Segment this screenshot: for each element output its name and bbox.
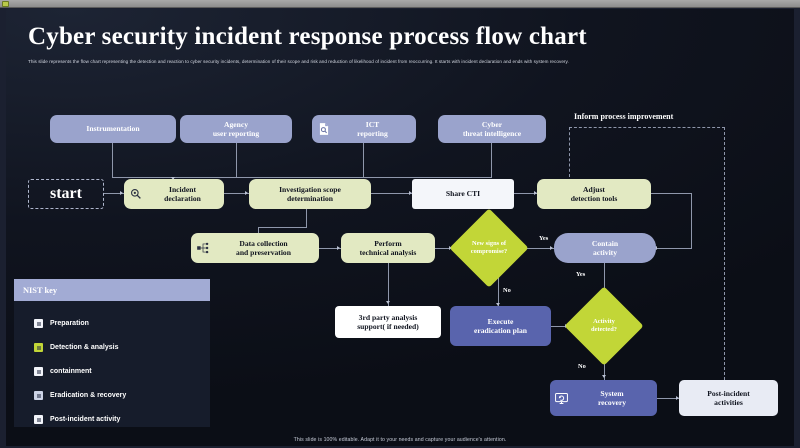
node-system-recovery-labels: System recovery (571, 389, 653, 408)
node-incident-line2: declaration (145, 194, 220, 203)
window-titlebar (0, 0, 800, 8)
node-data-collection-preservation[interactable]: Data collection and preservation (191, 233, 319, 263)
slide-subtitle: This slide represents the flow chart rep… (28, 57, 764, 67)
node-adjust-detection-tools[interactable]: Adjust detection tools (537, 179, 651, 209)
node-recovery-line2: recovery (571, 398, 653, 407)
node-contain-activity[interactable]: Contain activity (554, 233, 656, 263)
legend-item-eradication-recovery[interactable]: Eradication & recovery (34, 391, 126, 400)
node-third-party-line1: 3rd party analysis (357, 313, 419, 322)
node-eradication-line1: Execute (488, 317, 514, 326)
magnifier-icon (128, 187, 143, 202)
arrow-start-to-incident (120, 191, 123, 195)
legend-label-containment: containment (50, 368, 92, 375)
slide-footer: This slide is 100% editable. Adapt it to… (6, 437, 794, 443)
node-third-party-analysis-support[interactable]: 3rd party analysis support( if needed) (335, 306, 441, 338)
connector-investigation-down (306, 208, 307, 227)
node-post-incident-line2: activities (714, 398, 743, 407)
page-title: Cyber security incident response process… (28, 23, 587, 51)
node-cti-line2: threat intelligence (463, 129, 521, 138)
application-window: Cyber security incident response process… (0, 0, 800, 448)
legend-item-preparation[interactable]: Preparation (34, 319, 89, 328)
node-investigation-scope-determination[interactable]: Investigation scope determination (249, 179, 371, 209)
edge-label-no-third-party: No (503, 287, 511, 294)
monitor-recovery-icon (554, 391, 569, 406)
hierarchy-icon (195, 241, 210, 256)
node-cti-line1: Cyber (482, 120, 502, 129)
node-recovery-line1: System (571, 389, 653, 398)
node-third-party-labels: 3rd party analysis support( if needed) (357, 313, 419, 332)
node-incident-line1: Incident (145, 185, 220, 194)
decision-new-signs-line1: New signs of (472, 240, 506, 248)
app-icon (2, 1, 9, 7)
connector-inform-down-to-adjust (569, 127, 570, 177)
node-investigation-line2: determination (287, 194, 333, 203)
node-ict-line2: reporting (333, 129, 412, 138)
legend-swatch-preparation (34, 319, 43, 328)
legend-item-post-incident-activity[interactable]: Post-incident activity (34, 415, 120, 424)
start-terminal[interactable]: start (28, 179, 104, 209)
legend-label-eradication-recovery: Eradication & recovery (50, 392, 126, 399)
node-execute-eradication-plan[interactable]: Execute eradication plan (450, 306, 551, 346)
connector-to-data-collection (258, 227, 307, 228)
connector-inform-horizontal (569, 127, 725, 128)
node-data-collection-labels: Data collection and preservation (212, 239, 315, 258)
node-ict-line1: ICT (333, 120, 412, 129)
node-contain-line1: Contain (592, 239, 618, 248)
node-share-cti-label: Share CTI (446, 189, 480, 198)
connector-inform-vertical (724, 127, 725, 380)
arrow-diamond-to-contain (550, 246, 553, 250)
node-post-incident-activities[interactable]: Post-incident activities (679, 380, 778, 416)
node-contain-line2: activity (593, 248, 617, 257)
decision-new-signs-line2: compromise? (471, 248, 507, 256)
node-post-incident-line1: Post-incident (707, 389, 750, 398)
legend-label-post-incident-activity: Post-incident activity (50, 416, 120, 423)
node-share-cti[interactable]: Share CTI (412, 179, 514, 209)
arrow-data-to-technical (337, 246, 340, 250)
node-ict-labels: ICT reporting (333, 120, 412, 139)
node-perform-technical-analysis[interactable]: Perform technical analysis (341, 233, 435, 263)
legend-swatch-containment (34, 367, 43, 376)
node-third-party-line2: support( if needed) (357, 322, 419, 331)
node-eradication-line2: eradication plan (474, 326, 527, 335)
node-instrumentation-label: Instrumentation (86, 124, 139, 133)
edge-label-yes-contain: Yes (539, 235, 548, 242)
nist-key-legend: NIST key Preparation Detection & analysi… (14, 279, 210, 427)
connector-adjust-down (691, 193, 692, 248)
node-incident-declaration-labels: Incident declaration (145, 185, 220, 204)
arrow-incident-to-investigation (245, 191, 248, 195)
legend-swatch-eradication-recovery (34, 391, 43, 400)
decision-activity-line2: detected? (591, 326, 617, 334)
legend-label-preparation: Preparation (50, 320, 89, 327)
arrow-technical-down (386, 301, 390, 304)
legend-swatch-post-incident-activity (34, 415, 43, 424)
decision-new-signs-labels: New signs of compromise? (461, 220, 517, 276)
legend-title: NIST key (14, 279, 210, 301)
node-adjust-line2: detection tools (571, 194, 618, 203)
slide-canvas: Cyber security incident response process… (6, 9, 794, 446)
legend-swatch-detection-analysis (34, 343, 43, 352)
edge-label-inform-process-improvement: Inform process improvement (574, 112, 673, 121)
edge-label-yes-eradication: Yes (576, 271, 585, 278)
connector-adjust-right (651, 193, 691, 194)
node-agency-user-reporting[interactable]: Agency user reporting (180, 115, 292, 143)
decision-activity-detected-labels: Activity detected? (576, 298, 632, 354)
edge-label-no-system-recovery: No (578, 363, 586, 370)
node-adjust-line1: Adjust (583, 185, 605, 194)
decision-activity-detected[interactable]: Activity detected? (576, 298, 632, 354)
node-agency-line2: user reporting (213, 129, 259, 138)
node-investigation-line1: Investigation scope (279, 185, 341, 194)
node-data-collection-line2: and preservation (212, 248, 315, 257)
connector-investigation-to-sharecti (371, 193, 413, 194)
decision-new-signs-of-compromise[interactable]: New signs of compromise? (461, 220, 517, 276)
legend-item-detection-analysis[interactable]: Detection & analysis (34, 343, 118, 352)
connector-technical-down (388, 262, 389, 306)
node-agency-line1: Agency (224, 120, 248, 129)
node-instrumentation[interactable]: Instrumentation (50, 115, 176, 143)
node-technical-line2: technical analysis (360, 248, 417, 257)
node-incident-declaration[interactable]: Incident declaration (124, 179, 224, 209)
node-data-collection-line1: Data collection (212, 239, 315, 248)
legend-label-detection-analysis: Detection & analysis (50, 344, 118, 351)
connector-top-bus (112, 177, 492, 178)
node-system-recovery[interactable]: System recovery (550, 380, 657, 416)
decision-activity-line1: Activity (593, 318, 615, 326)
legend-item-containment[interactable]: containment (34, 367, 92, 376)
arrow-activity-no-down (602, 375, 606, 378)
node-cyber-threat-intelligence[interactable]: Cyber threat intelligence (438, 115, 546, 143)
start-label: start (50, 185, 82, 203)
node-technical-line1: Perform (374, 239, 401, 248)
connector-into-contain-right (656, 248, 692, 249)
document-search-icon (316, 122, 331, 137)
node-ict-reporting[interactable]: ICT reporting (312, 115, 416, 143)
